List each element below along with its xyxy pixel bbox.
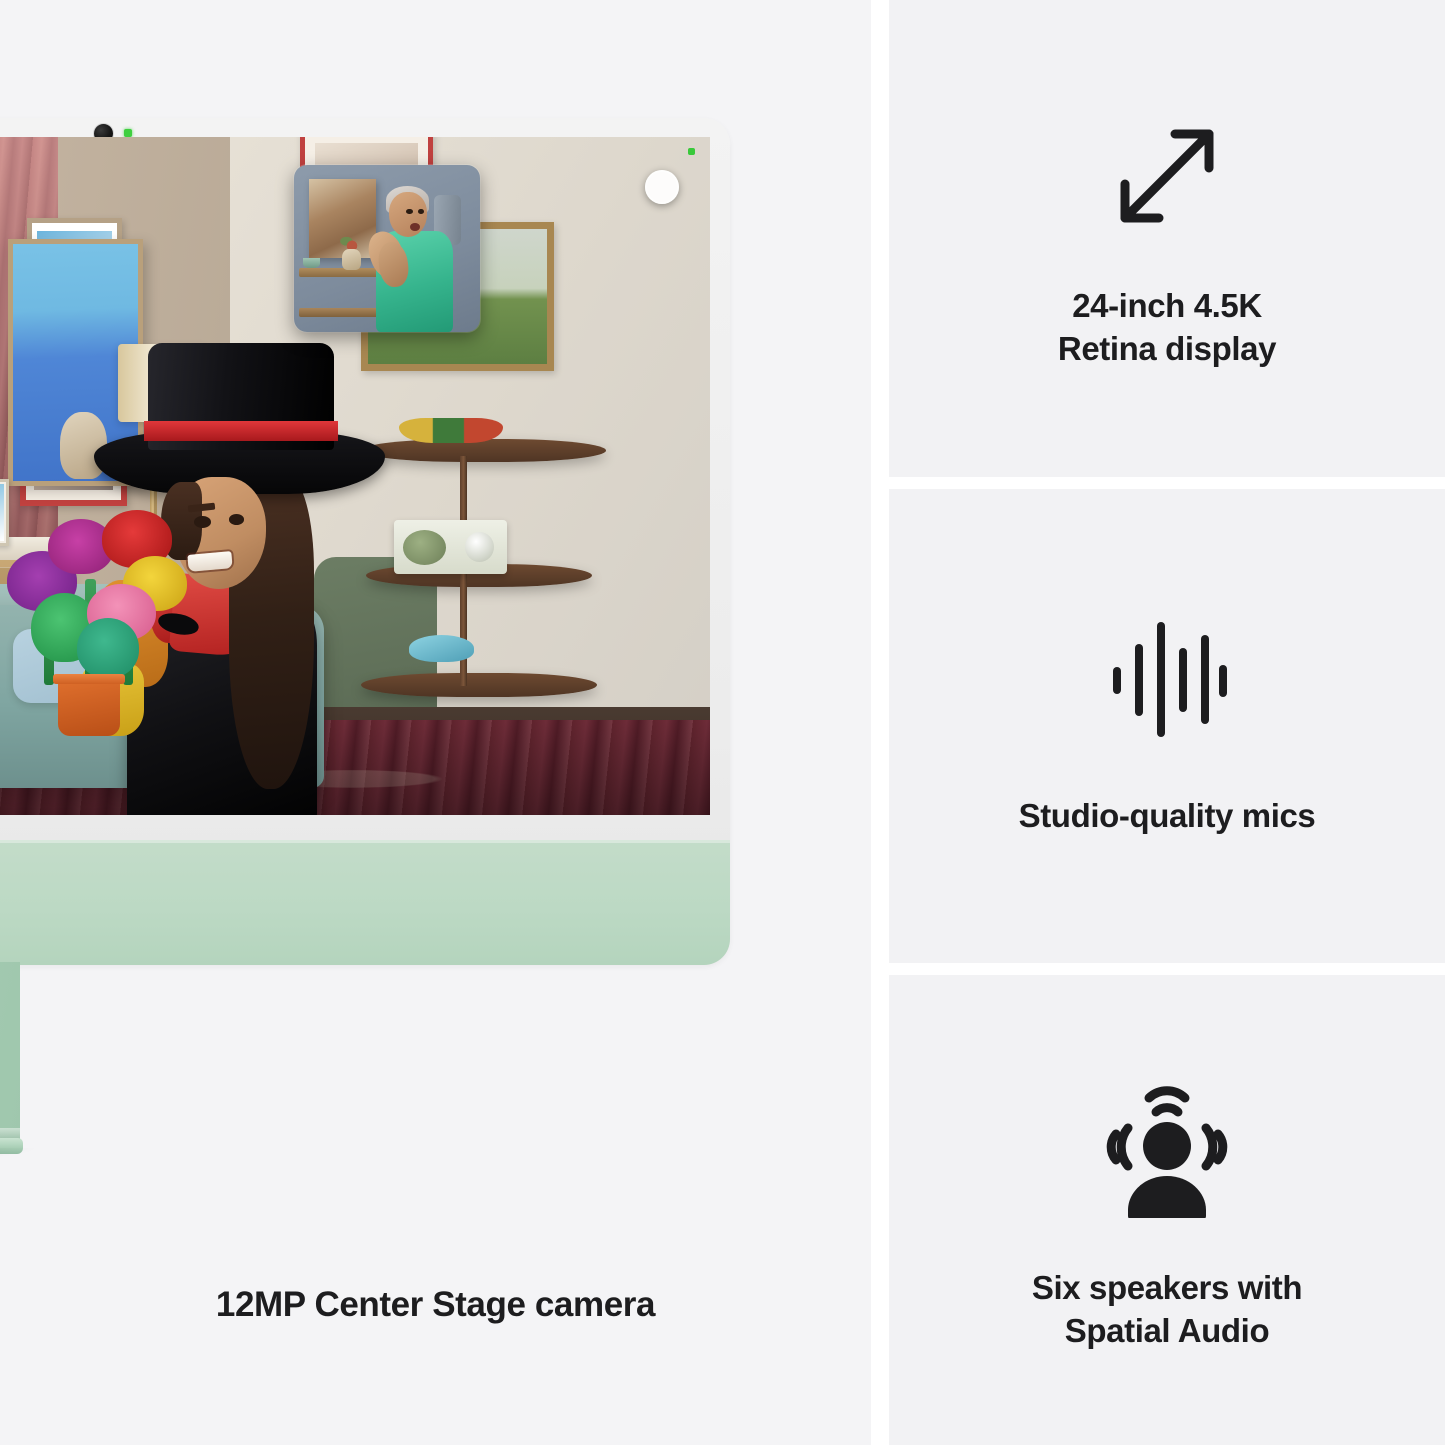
diagonal-expand-arrows-icon: [1097, 106, 1237, 251]
imac-feature-panel: 12MP Center Stage camera: [0, 0, 871, 1445]
feature-card-retina-display[interactable]: 24-inch 4.5K Retina display: [889, 0, 1445, 477]
imac-device: [0, 118, 730, 1163]
feature-label-line2: Retina display: [1058, 328, 1276, 371]
card-divider-gap: [889, 477, 1445, 489]
card-divider-gap: [889, 963, 1445, 975]
feature-label-line1: Six speakers with: [1032, 1267, 1302, 1310]
feature-label-line1: 24-inch 4.5K: [1058, 285, 1276, 328]
screen-corner-led-icon: [688, 148, 695, 155]
imac-stand-neck: [0, 962, 20, 1142]
flower-pot: [58, 674, 120, 736]
feature-card-label: Six speakers with Spatial Audio: [1032, 1267, 1302, 1353]
feature-card-studio-mics[interactable]: Studio-quality mics: [889, 489, 1445, 963]
feature-label-line2: Spatial Audio: [1032, 1310, 1302, 1353]
feature-grid-page: 12MP Center Stage camera 24-inch 4.5K Re…: [0, 0, 1445, 1445]
imac-screen: [0, 137, 710, 815]
facetime-pip-window[interactable]: [294, 165, 481, 331]
feature-card-label: Studio-quality mics: [1019, 795, 1316, 838]
person-grandparent-clapping: [374, 192, 460, 332]
imac-chin: [0, 840, 730, 965]
camera-feature-caption: 12MP Center Stage camera: [0, 1285, 871, 1325]
feature-card-spatial-audio[interactable]: Six speakers with Spatial Audio: [889, 975, 1445, 1445]
feature-card-label: 24-inch 4.5K Retina display: [1058, 285, 1276, 371]
recording-led-icon: [124, 129, 132, 137]
audio-waveform-icon: [1107, 614, 1227, 749]
feature-cards-column: 24-inch 4.5K Retina display Studio-quali…: [889, 0, 1445, 1445]
paper-flower-bouquet: [0, 510, 201, 741]
facetime-control-button-icon[interactable]: [645, 170, 679, 204]
spatial-audio-person-icon: [1092, 1068, 1242, 1223]
imac-drop-shadow: [0, 1148, 35, 1162]
facetime-call-scene: [0, 137, 710, 815]
feature-label-line1: Studio-quality mics: [1019, 795, 1316, 838]
imac-enclosure: [0, 118, 730, 965]
